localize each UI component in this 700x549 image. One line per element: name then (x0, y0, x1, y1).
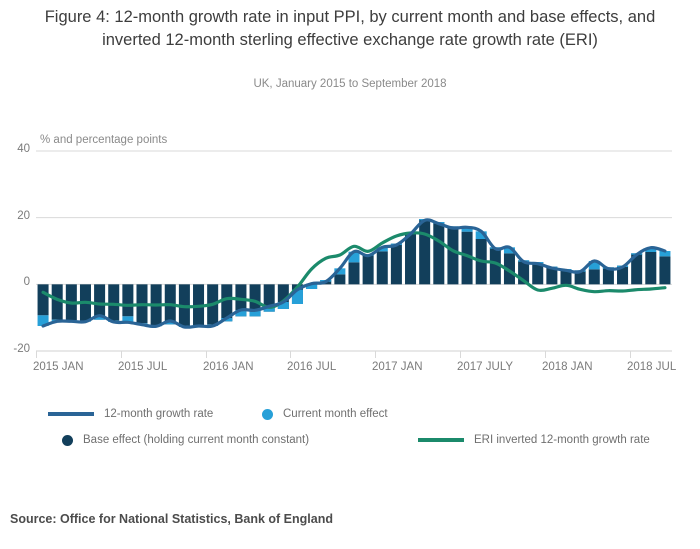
chart-svg (0, 0, 700, 400)
legend-line-swatch-icon (48, 412, 94, 416)
bar-base-effect (659, 256, 670, 284)
bar-base-effect (589, 269, 600, 284)
figure-container: Figure 4: 12-month growth rate in input … (0, 0, 700, 549)
bar-base-effect (447, 226, 458, 284)
bar-base-effect (377, 251, 388, 284)
x-axis-tick-label: 2017 JULY (457, 361, 513, 373)
chart-legend: 12-month growth rateCurrent month effect… (0, 404, 700, 464)
bar-base-effect (363, 254, 374, 284)
bar-base-effect (334, 274, 345, 284)
bar-base-effect (645, 252, 656, 284)
bar-base-effect (419, 219, 430, 284)
legend-dot-swatch-icon (62, 435, 73, 446)
x-axis-tick-label: 2018 JUL (627, 361, 676, 373)
bar-base-effect (391, 244, 402, 285)
x-axis-tick-label: 2015 JUL (118, 361, 167, 373)
x-axis-tick-label: 2016 JAN (203, 361, 254, 373)
chart-plot-area (0, 0, 700, 400)
legend-item-label: ERI inverted 12-month growth rate (474, 434, 650, 446)
legend-item[interactable]: Base effect (holding current month const… (62, 434, 309, 446)
y-axis-tick-label: 0 (0, 276, 30, 288)
legend-item-label: 12-month growth rate (104, 408, 213, 420)
x-axis-tick-label: 2016 JUL (287, 361, 336, 373)
legend-item[interactable]: Current month effect (262, 408, 388, 420)
legend-item[interactable]: ERI inverted 12-month growth rate (418, 434, 650, 446)
legend-dot-swatch-icon (262, 409, 273, 420)
y-axis-tick-label: -20 (0, 343, 30, 355)
source-note: Source: Office for National Statistics, … (10, 512, 333, 526)
y-axis-unit-label: % and percentage points (40, 134, 170, 146)
legend-item[interactable]: 12-month growth rate (48, 408, 213, 420)
y-axis-tick-label: 40 (0, 143, 30, 155)
bar-base-effect (108, 284, 119, 320)
x-axis-tick-label: 2015 JAN (33, 361, 84, 373)
x-axis-tick-label: 2017 JAN (372, 361, 423, 373)
legend-line-swatch-icon (418, 438, 464, 442)
bar-base-effect (122, 284, 133, 316)
bar-base-effect (348, 262, 359, 284)
bar-base-effect (38, 284, 49, 315)
legend-item-label: Base effect (holding current month const… (83, 434, 309, 446)
x-axis-tick-label: 2018 JAN (542, 361, 593, 373)
y-axis-tick-label: 20 (0, 210, 30, 222)
bar-base-effect (405, 233, 416, 285)
legend-item-label: Current month effect (283, 408, 388, 420)
bar-base-effect (433, 222, 444, 284)
